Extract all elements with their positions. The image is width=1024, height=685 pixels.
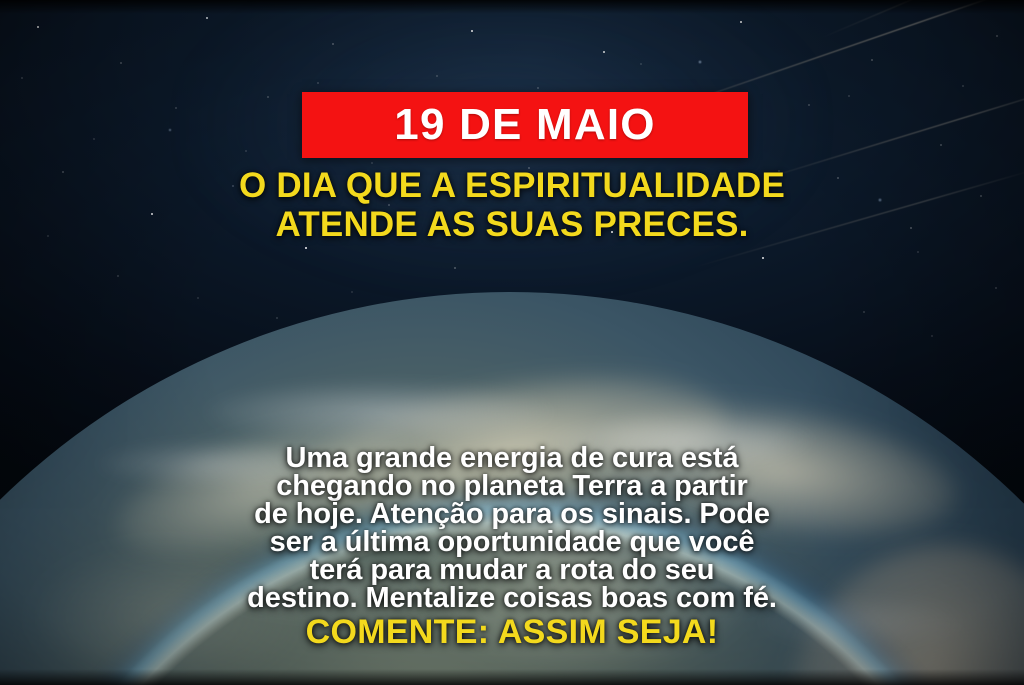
- date-banner: 19 DE MAIO: [302, 92, 748, 158]
- body-line-6: destino. Mentalize coisas boas com fé.: [0, 584, 1024, 612]
- poster-content: 19 DE MAIO O DIA QUE A ESPIRITUALIDADE A…: [0, 0, 1024, 685]
- body-line-5: terá para mudar a rota do seu: [0, 556, 1024, 584]
- body-line-4: ser a última oportunidade que você: [0, 528, 1024, 556]
- call-to-action: COMENTE: ASSIM SEJA!: [0, 613, 1024, 651]
- headline: O DIA QUE A ESPIRITUALIDADE ATENDE AS SU…: [0, 166, 1024, 244]
- headline-line-1: O DIA QUE A ESPIRITUALIDADE: [0, 166, 1024, 205]
- body-paragraph: Uma grande energia de cura está chegando…: [0, 444, 1024, 612]
- body-line-2: chegando no planeta Terra a partir: [0, 472, 1024, 500]
- headline-line-2: ATENDE AS SUAS PRECES.: [0, 205, 1024, 244]
- body-line-1: Uma grande energia de cura está: [0, 444, 1024, 472]
- poster-canvas: 19 DE MAIO O DIA QUE A ESPIRITUALIDADE A…: [0, 0, 1024, 685]
- body-line-3: de hoje. Atenção para os sinais. Pode: [0, 500, 1024, 528]
- date-banner-label: 19 DE MAIO: [394, 103, 655, 147]
